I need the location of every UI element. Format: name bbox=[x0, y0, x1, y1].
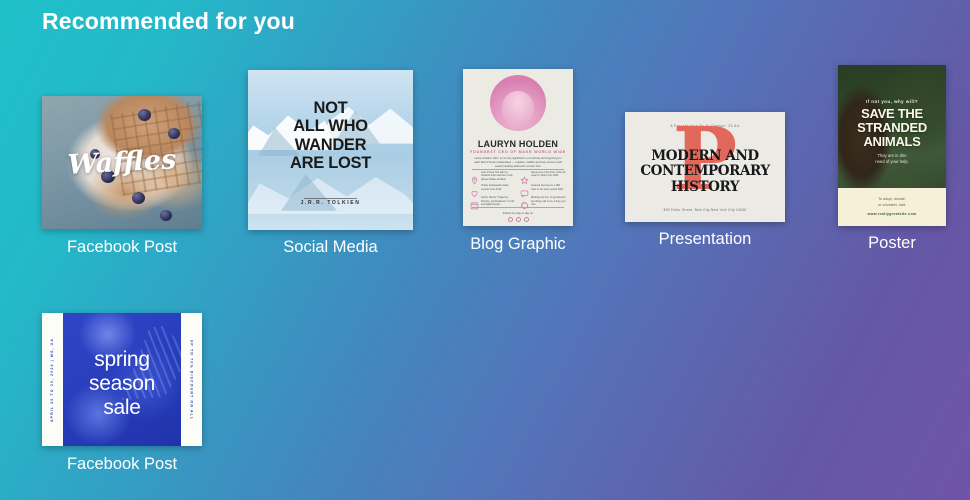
list-item-text: Charity ambassador leader member since 2… bbox=[481, 185, 516, 192]
blog-body: Lauryn Holden, CEO, is not only signific… bbox=[472, 157, 564, 169]
thumbnail-spring-sale[interactable]: spring season sale APRIL 26 TO 30, 2024 … bbox=[42, 313, 202, 446]
template-grid: Waffles Facebook Post NOT ALL WHO WANDER… bbox=[0, 0, 970, 500]
spring-sale-side-text-right: UP TO 70% DISCOUNT ON ALL bbox=[190, 339, 194, 420]
poster-band-text: To adopt, donate, or volunteer, visit: bbox=[838, 197, 946, 209]
spring-sale-side-text-left: APRIL 26 TO 30, 2024 | MS, UA bbox=[51, 337, 55, 421]
quote-line-3: WANDER bbox=[248, 136, 413, 154]
thumbnail-social-media[interactable]: NOT ALL WHO WANDER ARE LOST J.R.R. TOLKI… bbox=[248, 70, 413, 230]
divider bbox=[472, 169, 564, 170]
blog-footer: Follow her day to day at: bbox=[463, 211, 573, 215]
template-card-poster[interactable]: If not you, why will? SAVE THE STRANDED … bbox=[838, 65, 946, 226]
spring-sale-line-1: spring bbox=[42, 348, 202, 372]
poster-url: www.reallygreatsite.com bbox=[838, 212, 946, 216]
template-card-blog-graphic[interactable]: LAURYN HOLDEN YOUNGEST CEO OF MAKE WORLD… bbox=[463, 69, 573, 226]
social-icon bbox=[508, 217, 513, 222]
quote-line-4: ARE LOST bbox=[248, 154, 413, 172]
calendar-icon bbox=[470, 197, 479, 206]
list-item-text: Featured interview on a TED class on her… bbox=[531, 185, 566, 192]
card-label-facebook-post-2: Facebook Post bbox=[42, 455, 202, 474]
template-card-facebook-post-spring-sale[interactable]: spring season sale APRIL 26 TO 30, 2024 … bbox=[42, 313, 202, 446]
quote-attribution: J.R.R. TOLKIEN bbox=[248, 200, 413, 206]
quote-line-1: NOT bbox=[248, 99, 413, 117]
chat-icon bbox=[520, 185, 529, 194]
card-label-social-media: Social Media bbox=[248, 238, 413, 257]
pin-icon bbox=[470, 172, 479, 181]
thumbnail-waffles[interactable]: Waffles bbox=[42, 96, 202, 229]
card-label-presentation: Presentation bbox=[625, 230, 785, 249]
blog-feature-list: Lives in New York with her husband Justi… bbox=[470, 172, 566, 208]
list-item: Featured interview on a TED class on her… bbox=[520, 185, 566, 194]
list-item: Lives in New York with her husband Justi… bbox=[470, 172, 516, 182]
list-item: Named one of the Forty Under 40 under by… bbox=[520, 172, 566, 182]
social-icon bbox=[524, 217, 529, 222]
poster-band-line-2: or volunteer, visit: bbox=[838, 203, 946, 209]
template-card-facebook-post-waffles[interactable]: Waffles Facebook Post bbox=[42, 96, 202, 229]
spring-sale-right-band: UP TO 70% DISCOUNT ON ALL bbox=[181, 313, 202, 446]
avatar bbox=[490, 75, 546, 131]
poster-headline-line-2: STRANDED bbox=[838, 121, 946, 135]
heart-icon bbox=[470, 185, 479, 194]
list-item: Charity ambassador leader member since 2… bbox=[470, 185, 516, 194]
card-label-blog-graphic: Blog Graphic bbox=[463, 235, 573, 254]
list-item-text: Bookings are free. To get ahead in two t… bbox=[531, 197, 566, 207]
thumbnail-blog-graphic[interactable]: LAURYN HOLDEN YOUNGEST CEO OF MAKE WORLD… bbox=[463, 69, 573, 226]
spring-sale-line-3: sale bbox=[42, 396, 202, 420]
poster-kicker: If not you, why will? bbox=[838, 99, 946, 104]
blog-subtitle: YOUNGEST CEO OF MAKE WORLD WIDE bbox=[463, 150, 573, 154]
card-label-facebook-post: Facebook Post bbox=[42, 238, 202, 257]
presentation-title-line-3: HISTORY bbox=[625, 180, 785, 195]
quote-line-2: ALL WHO bbox=[248, 117, 413, 135]
spring-sale-title: spring season sale bbox=[42, 348, 202, 421]
presentation-footer: 890 Fuller Street, New City New York Cit… bbox=[625, 208, 785, 212]
blueberry-icon bbox=[132, 192, 145, 204]
template-card-presentation[interactable]: A Presentation By Dr Dawson '23 Art P MO… bbox=[625, 112, 785, 222]
blog-name: LAURYN HOLDEN bbox=[463, 139, 573, 149]
poster-subtext-line-2: need of your help. bbox=[838, 159, 946, 165]
spring-sale-line-2: season bbox=[42, 372, 202, 396]
list-item-text: Named one of the Forty Under 40 under by… bbox=[531, 172, 566, 179]
social-icon bbox=[516, 217, 521, 222]
social-icons bbox=[463, 217, 573, 222]
template-card-social-media[interactable]: NOT ALL WHO WANDER ARE LOST J.R.R. TOLKI… bbox=[248, 70, 413, 230]
quote-text: NOT ALL WHO WANDER ARE LOST bbox=[248, 99, 413, 173]
poster-headline: SAVE THE STRANDED ANIMALS bbox=[838, 107, 946, 149]
speech-icon bbox=[520, 197, 529, 206]
poster-headline-line-1: SAVE THE bbox=[838, 107, 946, 121]
list-item: Bookings are free. To get ahead in two t… bbox=[520, 197, 566, 207]
thumbnail-presentation[interactable]: A Presentation By Dr Dawson '23 Art P MO… bbox=[625, 112, 785, 222]
spring-sale-left-band: APRIL 26 TO 30, 2024 | MS, UA bbox=[42, 313, 63, 446]
card-label-poster: Poster bbox=[838, 234, 946, 253]
list-item-text: Author, Memoir "Trajectory, Purpose, and… bbox=[481, 197, 516, 207]
list-item: Author, Memoir "Trajectory, Purpose, and… bbox=[470, 197, 516, 207]
poster-subtext: They are in dire need of your help. bbox=[838, 153, 946, 166]
poster-band: To adopt, donate, or volunteer, visit: w… bbox=[838, 188, 946, 226]
poster-headline-line-3: ANIMALS bbox=[838, 135, 946, 149]
divider bbox=[472, 207, 564, 208]
list-item-text: Lives in New York with her husband Justi… bbox=[481, 172, 516, 182]
presentation-title-line-1: MODERN AND bbox=[625, 149, 785, 164]
presentation-title-line-2: CONTEMPORARY bbox=[625, 164, 785, 179]
presentation-title: MODERN AND CONTEMPORARY HISTORY bbox=[625, 149, 785, 195]
thumbnail-poster[interactable]: If not you, why will? SAVE THE STRANDED … bbox=[838, 65, 946, 226]
star-icon bbox=[520, 172, 529, 181]
